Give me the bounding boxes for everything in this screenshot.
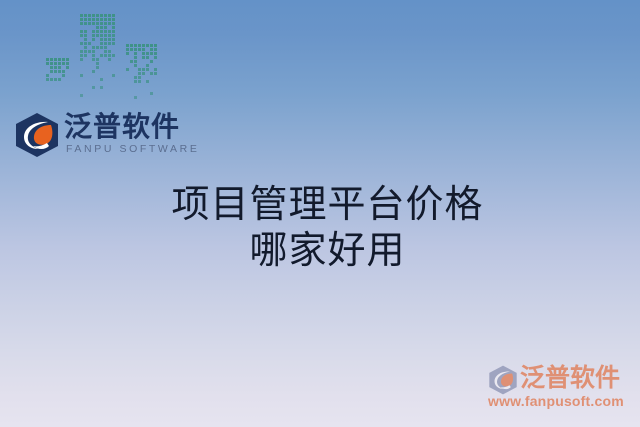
- dot-matrix-cell: [126, 68, 129, 71]
- dot-matrix-cell: [80, 54, 83, 57]
- dot-matrix-cell: [92, 14, 95, 17]
- dot-matrix-cell: [104, 42, 107, 45]
- dot-matrix-cell: [58, 58, 61, 61]
- dot-matrix-cell: [88, 18, 91, 21]
- dot-matrix-cell: [134, 96, 137, 99]
- dot-matrix-cell: [58, 70, 61, 73]
- dot-matrix-cell: [104, 54, 107, 57]
- dot-matrix-cell: [54, 78, 57, 81]
- dot-matrix-cell: [150, 72, 153, 75]
- dot-matrix-cell: [134, 44, 137, 47]
- dot-matrix-cell: [150, 60, 153, 63]
- dot-matrix-cell: [146, 68, 149, 71]
- dot-matrix-cell: [146, 44, 149, 47]
- dot-matrix-cell: [104, 38, 107, 41]
- dot-matrix-cell: [96, 34, 99, 37]
- dot-matrix-cell: [92, 22, 95, 25]
- dot-matrix-cell: [108, 54, 111, 57]
- dot-matrix-cell: [108, 22, 111, 25]
- fanpu-hexagon-logo-icon: [488, 365, 518, 395]
- dot-matrix-cell: [50, 66, 53, 69]
- dot-matrix-cell: [50, 62, 53, 65]
- dot-matrix-cell: [100, 18, 103, 21]
- dot-matrix-cell: [80, 58, 83, 61]
- dot-matrix-cell: [154, 44, 157, 47]
- dot-matrix-cell: [134, 64, 137, 67]
- dot-matrix-cell: [100, 14, 103, 17]
- dot-matrix-cell: [46, 62, 49, 65]
- dot-matrix-cell: [108, 34, 111, 37]
- dot-matrix-cell: [138, 80, 141, 83]
- dot-matrix-cell: [80, 34, 83, 37]
- dot-matrix-cell: [104, 50, 107, 53]
- dot-matrix-cell: [142, 56, 145, 59]
- dot-matrix-cell: [88, 22, 91, 25]
- dot-matrix-cell: [54, 66, 57, 69]
- dot-matrix-cell: [138, 72, 141, 75]
- dot-matrix-cell: [138, 48, 141, 51]
- dot-matrix-cell: [150, 52, 153, 55]
- dot-matrix-cell: [92, 70, 95, 73]
- dot-matrix-cell: [46, 78, 49, 81]
- dot-matrix-cell: [100, 22, 103, 25]
- dot-matrix-cell: [80, 42, 83, 45]
- dot-matrix-cell: [150, 48, 153, 51]
- dot-matrix-cell: [92, 38, 95, 41]
- dot-matrix-cell: [150, 44, 153, 47]
- dot-matrix-cell: [62, 70, 65, 73]
- dot-matrix-cell: [96, 62, 99, 65]
- dot-matrix-cell: [80, 94, 83, 97]
- dot-matrix-cell: [154, 48, 157, 51]
- dot-matrix-cell: [92, 50, 95, 53]
- dot-matrix-cell: [92, 34, 95, 37]
- dot-matrix-cell: [142, 72, 145, 75]
- dot-matrix-cell: [54, 70, 57, 73]
- dot-matrix-cell: [112, 38, 115, 41]
- dot-matrix-cell: [112, 74, 115, 77]
- dot-matrix-cell: [84, 54, 87, 57]
- dot-matrix-cell: [146, 64, 149, 67]
- dot-matrix-cell: [108, 50, 111, 53]
- dot-matrix-cell: [146, 56, 149, 59]
- dot-matrix-cell: [84, 38, 87, 41]
- brand-name-en: FANPU SOFTWARE: [66, 143, 199, 155]
- dot-matrix-cell: [66, 62, 69, 65]
- dot-matrix-cell: [130, 60, 133, 63]
- dot-matrix-cell: [104, 34, 107, 37]
- dot-matrix-cell: [80, 30, 83, 33]
- dot-matrix-cell: [92, 86, 95, 89]
- dot-matrix-cell: [46, 58, 49, 61]
- dot-matrix-cell: [108, 58, 111, 61]
- dot-matrix-cell: [84, 34, 87, 37]
- dot-matrix-cell: [54, 58, 57, 61]
- dot-matrix-cell: [146, 52, 149, 55]
- dot-matrix-cell: [50, 78, 53, 81]
- dot-matrix-cell: [150, 92, 153, 95]
- dot-matrix-cell: [96, 66, 99, 69]
- dot-matrix-cell: [142, 52, 145, 55]
- dot-matrix-cell: [100, 38, 103, 41]
- dot-matrix-cell: [96, 22, 99, 25]
- dot-matrix-cell: [112, 34, 115, 37]
- dot-matrix-cell: [104, 22, 107, 25]
- dot-matrix-cell: [104, 18, 107, 21]
- dot-matrix-cell: [108, 30, 111, 33]
- watermark-url: www.fanpusoft.com: [488, 393, 624, 410]
- dot-matrix-cell: [88, 42, 91, 45]
- dot-matrix-cell: [104, 30, 107, 33]
- dot-matrix-cell: [100, 30, 103, 33]
- dot-matrix-cell: [96, 14, 99, 17]
- dot-matrix-cell: [96, 26, 99, 29]
- page-title-line-2: 哪家好用: [150, 228, 505, 274]
- dot-matrix-cell: [154, 56, 157, 59]
- dot-matrix-cell: [138, 44, 141, 47]
- dot-matrix-cell: [126, 48, 129, 51]
- dot-matrix-cell: [146, 80, 149, 83]
- dot-matrix-cell: [142, 44, 145, 47]
- dot-matrix-cell: [80, 22, 83, 25]
- dot-matrix-cell: [134, 52, 137, 55]
- dot-matrix-cell: [154, 52, 157, 55]
- dot-matrix-cell: [130, 48, 133, 51]
- dot-matrix-cell: [62, 58, 65, 61]
- dot-matrix-cell: [112, 30, 115, 33]
- dot-matrix-cell: [66, 58, 69, 61]
- dot-matrix-cell: [134, 56, 137, 59]
- dot-matrix-cell: [126, 44, 129, 47]
- dot-matrix-cell: [54, 62, 57, 65]
- dot-matrix-cell: [58, 62, 61, 65]
- dot-matrix-cell: [50, 58, 53, 61]
- brand-name-cn: 泛普软件: [64, 112, 180, 142]
- dot-matrix-cell: [104, 14, 107, 17]
- dot-matrix-cell: [108, 38, 111, 41]
- dot-matrix-cell: [100, 86, 103, 89]
- dot-matrix-cell: [134, 80, 137, 83]
- dot-matrix-cell: [142, 48, 145, 51]
- dot-matrix-cell: [80, 18, 83, 21]
- dot-matrix-cell: [112, 14, 115, 17]
- dot-matrix-cell: [138, 68, 141, 71]
- dot-matrix-cell: [84, 30, 87, 33]
- dot-matrix-cell: [108, 14, 111, 17]
- dot-matrix-cell: [58, 66, 61, 69]
- dot-matrix-cell: [100, 54, 103, 57]
- dot-matrix-cell: [104, 26, 107, 29]
- dot-matrix-cell: [84, 42, 87, 45]
- dot-matrix-cell: [100, 46, 103, 49]
- dot-matrix-cell: [46, 74, 49, 77]
- dot-matrix-cell: [58, 78, 61, 81]
- dot-matrix-cell: [88, 50, 91, 53]
- dot-matrix-cell: [112, 22, 115, 25]
- dot-matrix-cell: [92, 58, 95, 61]
- dot-matrix-cell: [92, 18, 95, 21]
- slide-canvas: 泛普软件 FANPU SOFTWARE 项目管理平台价格 哪家好用 泛普软件 w…: [0, 0, 640, 427]
- dot-matrix-cell: [134, 60, 137, 63]
- dot-matrix-cell: [62, 74, 65, 77]
- dot-matrix-cell: [88, 14, 91, 17]
- dot-matrix-cell: [62, 62, 65, 65]
- dot-matrix-cell: [80, 74, 83, 77]
- dot-matrix-cell: [112, 18, 115, 21]
- dot-matrix-cell: [134, 76, 137, 79]
- dot-matrix-cell: [104, 46, 107, 49]
- fanpu-hexagon-logo-icon: [14, 112, 60, 158]
- dot-matrix-cell: [108, 42, 111, 45]
- dot-matrix-cell: [96, 58, 99, 61]
- dot-matrix-cell: [130, 44, 133, 47]
- dot-matrix-cell: [84, 50, 87, 53]
- dot-matrix-cell: [112, 54, 115, 57]
- dot-matrix-cell: [142, 68, 145, 71]
- dot-matrix-cell: [66, 66, 69, 69]
- dot-matrix-cell: [100, 78, 103, 81]
- dot-matrix-cell: [50, 70, 53, 73]
- dot-matrix-cell: [92, 46, 95, 49]
- dot-matrix-cell: [96, 30, 99, 33]
- dot-matrix-cell: [100, 26, 103, 29]
- dot-matrix-cell: [96, 46, 99, 49]
- dot-matrix-cell: [96, 18, 99, 21]
- dot-matrix-cell: [84, 22, 87, 25]
- dot-matrix-cell: [100, 34, 103, 37]
- dot-matrix-skyline-decoration: [46, 14, 166, 110]
- watermark: 泛普软件 www.fanpusoft.com: [486, 363, 634, 413]
- page-title-line-1: 项目管理平台价格: [150, 182, 505, 228]
- dot-matrix-cell: [92, 30, 95, 33]
- watermark-brand-name: 泛普软件: [520, 363, 620, 393]
- dot-matrix-cell: [126, 52, 129, 55]
- dot-matrix-cell: [108, 18, 111, 21]
- brand-logo: 泛普软件 FANPU SOFTWARE: [14, 110, 184, 162]
- dot-matrix-cell: [80, 50, 83, 53]
- dot-matrix-cell: [112, 26, 115, 29]
- dot-matrix-cell: [112, 42, 115, 45]
- dot-matrix-cell: [92, 54, 95, 57]
- dot-matrix-cell: [84, 46, 87, 49]
- dot-matrix-cell: [154, 72, 157, 75]
- dot-matrix-cell: [84, 14, 87, 17]
- dot-matrix-cell: [100, 42, 103, 45]
- dot-matrix-cell: [138, 76, 141, 79]
- dot-matrix-cell: [84, 18, 87, 21]
- dot-matrix-cell: [80, 14, 83, 17]
- page-title: 项目管理平台价格 哪家好用: [150, 182, 505, 274]
- dot-matrix-cell: [154, 68, 157, 71]
- dot-matrix-cell: [134, 48, 137, 51]
